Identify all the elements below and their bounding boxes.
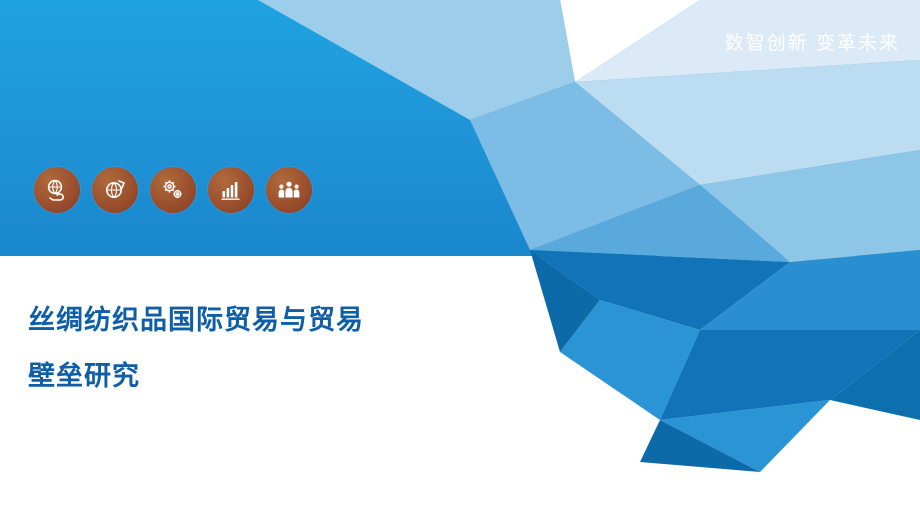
polygon-artwork (0, 0, 920, 518)
bar-chart-icon (208, 167, 254, 213)
people-group-icon (266, 167, 312, 213)
presentation-title-slide: 数智创新 变革未来 (0, 0, 920, 518)
globe-hand-icon (34, 167, 80, 213)
title-line-2: 壁垒研究 (28, 348, 548, 404)
icon-row (34, 167, 312, 213)
globe-arrow-icon (92, 167, 138, 213)
gears-icon (150, 167, 196, 213)
slide-title: 丝绸纺织品国际贸易与贸易 壁垒研究 (28, 292, 548, 404)
tagline-text: 数智创新 变革未来 (725, 28, 900, 55)
title-line-1: 丝绸纺织品国际贸易与贸易 (28, 292, 548, 348)
